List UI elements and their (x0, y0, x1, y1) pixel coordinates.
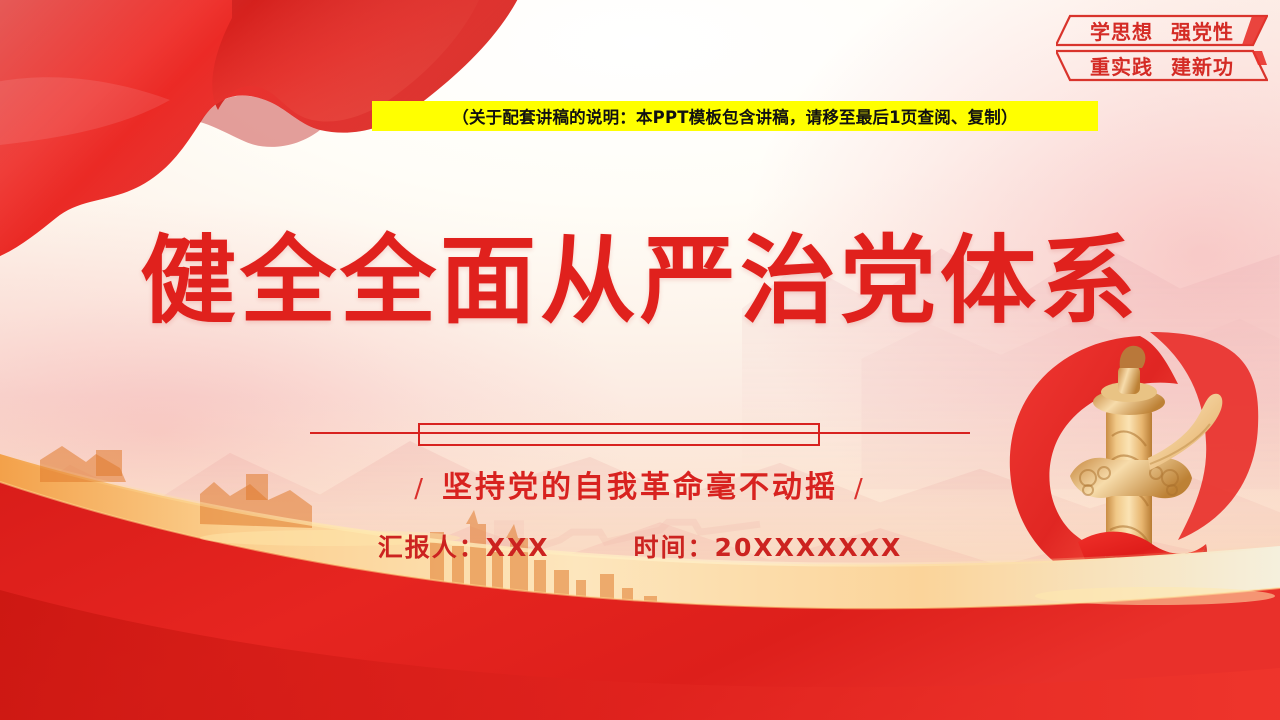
divider-rectangle (418, 423, 820, 446)
slogan-line-1-text: 学思想强党性 (1090, 16, 1234, 45)
meta-line: 汇报人：XXX时间：20XXXXXXX (0, 528, 1280, 564)
date-label: 时间：20XXXXXXX (634, 533, 903, 562)
subtitle-slash-right: / (838, 474, 882, 504)
subtitle: /坚持党的自我革命毫不动摇/ (0, 462, 1280, 506)
subtitle-slash-left: / (398, 474, 442, 504)
presentation-slide: 学思想强党性 重实践建新功 （关于配套讲稿的说明：本PPT模板包含讲稿，请移至最… (0, 0, 1280, 720)
presenter-label: 汇报人：XXX (378, 533, 550, 562)
slogan-line-2-text: 重实践建新功 (1090, 51, 1234, 80)
subtitle-text: 坚持党的自我革命毫不动摇 (442, 470, 838, 505)
divider (310, 418, 970, 448)
slogan-banner: 学思想强党性 重实践建新功 (1053, 14, 1268, 82)
page-title: 健全全面从严治党体系 (0, 230, 1280, 334)
slogan-line-1: 学思想强党性 (1056, 14, 1268, 47)
template-note-banner: （关于配套讲稿的说明：本PPT模板包含讲稿，请移至最后1页查阅、复制） (372, 101, 1098, 131)
slogan-line-2: 重实践建新功 (1056, 49, 1268, 82)
